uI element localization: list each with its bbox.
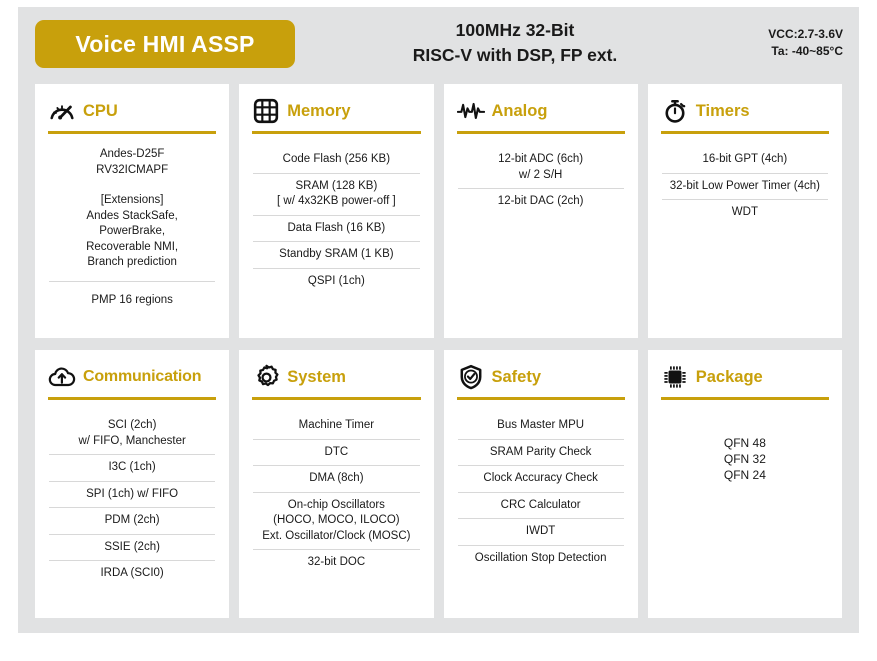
feature-row: Clock Accuracy Check	[458, 465, 624, 492]
feature-line: 32-bit DOC	[253, 555, 419, 571]
feature-line: Standby SRAM (1 KB)	[253, 247, 419, 263]
card-accent-rule	[252, 131, 420, 134]
stopwatch-icon	[661, 97, 689, 125]
waveform-icon	[457, 97, 485, 125]
feature-line: [ w/ 4x32KB power-off ]	[253, 194, 419, 210]
feature-row: IRDA (SCI0)	[49, 560, 215, 587]
feature-line: [Extensions]	[49, 193, 215, 209]
feature-row: WDT	[662, 199, 828, 226]
feature-row: 12-bit DAC (2ch)	[458, 188, 624, 215]
feature-line: Branch prediction	[49, 255, 215, 271]
feature-row: QSPI (1ch)	[253, 268, 419, 295]
feature-line: w/ 2 S/H	[458, 168, 624, 184]
feature-line: SCI (2ch)	[49, 418, 215, 434]
feature-row: CRC Calculator	[458, 492, 624, 519]
feature-row: PDM (2ch)	[49, 507, 215, 534]
package-option: QFN 48	[724, 435, 766, 451]
feature-row: SCI (2ch)w/ FIFO, Manchester	[49, 413, 215, 454]
shield-check-icon	[457, 363, 485, 391]
package-list-inner: QFN 48QFN 32QFN 24	[724, 435, 766, 483]
card-header-system: System	[250, 360, 422, 394]
feature-line: SRAM Parity Check	[458, 445, 624, 461]
feature-line: Data Flash (16 KB)	[253, 221, 419, 237]
feature-row: Machine Timer	[253, 413, 419, 439]
temperature-label: Ta: -40~85°C	[768, 43, 843, 60]
feature-row: I3C (1ch)	[49, 454, 215, 481]
feature-block: PMP 16 regions	[49, 281, 215, 309]
feature-row: Data Flash (16 KB)	[253, 215, 419, 242]
feature-line: Bus Master MPU	[458, 418, 624, 434]
card-title-cpu: CPU	[83, 102, 118, 121]
package-option: QFN 32	[724, 451, 766, 467]
feature-row: 12-bit ADC (6ch)w/ 2 S/H	[458, 147, 624, 188]
card-accent-rule	[661, 131, 829, 134]
card-accent-rule	[457, 131, 625, 134]
card-system: SystemMachine TimerDTCDMA (8ch)On-chip O…	[239, 350, 433, 618]
card-title-system: System	[287, 368, 346, 387]
package-list: QFN 48QFN 32QFN 24	[662, 435, 828, 483]
feature-row: 32-bit Low Power Timer (4ch)	[662, 173, 828, 200]
card-accent-rule	[661, 397, 829, 400]
card-body-timers: 16-bit GPT (4ch)32-bit Low Power Timer (…	[659, 147, 831, 226]
card-body-cpu: Andes-D25FRV32ICMAPF[Extensions]Andes St…	[46, 147, 218, 308]
feature-line: SSIE (2ch)	[49, 540, 215, 556]
feature-line: w/ FIFO, Manchester	[49, 434, 215, 450]
feature-row: SPI (1ch) w/ FIFO	[49, 481, 215, 508]
card-memory: MemoryCode Flash (256 KB)SRAM (128 KB)[ …	[239, 84, 433, 338]
card-title-analog: Analog	[492, 102, 548, 121]
card-header-timers: Timers	[659, 94, 831, 128]
feature-line: Andes-D25F	[49, 147, 215, 163]
feature-line: 12-bit ADC (6ch)	[458, 152, 624, 168]
grid-icon	[252, 97, 280, 125]
datasheet-block-diagram: Voice HMI ASSP 100MHz 32-Bit RISC-V with…	[0, 0, 877, 661]
header-spec-line1: 100MHz 32-Bit	[335, 18, 695, 43]
feature-row: Standby SRAM (1 KB)	[253, 241, 419, 268]
card-title-memory: Memory	[287, 102, 350, 121]
gauge-icon	[48, 97, 76, 125]
vcc-label: VCC:2.7-3.6V	[768, 26, 843, 43]
feature-line: DTC	[253, 445, 419, 461]
card-package: PackageQFN 48QFN 32QFN 24	[648, 350, 842, 618]
cloud-upload-icon	[48, 363, 76, 391]
feature-row: IWDT	[458, 518, 624, 545]
feature-line: On-chip Oscillators	[253, 498, 419, 514]
card-title-safety: Safety	[492, 368, 542, 387]
header-spec-right: VCC:2.7-3.6V Ta: -40~85°C	[768, 26, 843, 60]
feature-row: Bus Master MPU	[458, 413, 624, 439]
feature-line: Code Flash (256 KB)	[253, 152, 419, 168]
feature-line: PDM (2ch)	[49, 513, 215, 529]
product-title-label: Voice HMI ASSP	[75, 31, 254, 58]
feature-row: DMA (8ch)	[253, 465, 419, 492]
feature-line: I3C (1ch)	[49, 460, 215, 476]
feature-row: Code Flash (256 KB)	[253, 147, 419, 173]
card-body-package: QFN 48QFN 32QFN 24	[659, 413, 831, 483]
card-title-communication: Communication	[83, 368, 201, 386]
feature-block: [Extensions]Andes StackSafe,PowerBrake,R…	[49, 193, 215, 271]
card-body-communication: SCI (2ch)w/ FIFO, ManchesterI3C (1ch)SPI…	[46, 413, 218, 587]
product-title-badge: Voice HMI ASSP	[35, 20, 295, 68]
card-communication: CommunicationSCI (2ch)w/ FIFO, Mancheste…	[35, 350, 229, 618]
feature-line: Machine Timer	[253, 418, 419, 434]
feature-row: SRAM Parity Check	[458, 439, 624, 466]
card-header-communication: Communication	[46, 360, 218, 394]
card-body-system: Machine TimerDTCDMA (8ch)On-chip Oscilla…	[250, 413, 422, 576]
feature-line: CRC Calculator	[458, 498, 624, 514]
card-accent-rule	[48, 397, 216, 400]
feature-row: SRAM (128 KB)[ w/ 4x32KB power-off ]	[253, 173, 419, 215]
card-title-timers: Timers	[696, 102, 750, 121]
feature-card-grid: CPUAndes-D25FRV32ICMAPF[Extensions]Andes…	[35, 84, 842, 618]
header: Voice HMI ASSP 100MHz 32-Bit RISC-V with…	[35, 18, 859, 76]
card-body-memory: Code Flash (256 KB)SRAM (128 KB)[ w/ 4x3…	[250, 147, 422, 294]
feature-line: 16-bit GPT (4ch)	[662, 152, 828, 168]
feature-line: WDT	[662, 205, 828, 221]
feature-line: SPI (1ch) w/ FIFO	[49, 487, 215, 503]
feature-line: QSPI (1ch)	[253, 274, 419, 290]
feature-row: 32-bit DOC	[253, 549, 419, 576]
card-accent-rule	[252, 397, 420, 400]
feature-line: (HOCO, MOCO, ILOCO)	[253, 513, 419, 529]
gear-icon	[252, 363, 280, 391]
feature-row: 16-bit GPT (4ch)	[662, 147, 828, 173]
feature-line: Andes StackSafe,	[49, 209, 215, 225]
card-body-analog: 12-bit ADC (6ch)w/ 2 S/H12-bit DAC (2ch)	[455, 147, 627, 215]
card-timers: Timers16-bit GPT (4ch)32-bit Low Power T…	[648, 84, 842, 338]
card-accent-rule	[48, 131, 216, 134]
feature-line: RV32ICMAPF	[49, 163, 215, 179]
card-header-safety: Safety	[455, 360, 627, 394]
card-accent-rule	[457, 397, 625, 400]
feature-line: DMA (8ch)	[253, 471, 419, 487]
feature-line: Recoverable NMI,	[49, 240, 215, 256]
card-analog: Analog12-bit ADC (6ch)w/ 2 S/H12-bit DAC…	[444, 84, 638, 338]
feature-line: Oscillation Stop Detection	[458, 551, 624, 567]
feature-line: PMP 16 regions	[49, 293, 215, 309]
card-title-package: Package	[696, 368, 763, 387]
feature-line: Clock Accuracy Check	[458, 471, 624, 487]
card-header-analog: Analog	[455, 94, 627, 128]
card-header-cpu: CPU	[46, 94, 218, 128]
feature-line: Ext. Oscillator/Clock (MOSC)	[253, 529, 419, 545]
package-option: QFN 24	[724, 467, 766, 483]
header-spec-center: 100MHz 32-Bit RISC-V with DSP, FP ext.	[335, 18, 695, 68]
feature-line: 12-bit DAC (2ch)	[458, 194, 624, 210]
chip-icon	[661, 363, 689, 391]
card-safety: SafetyBus Master MPUSRAM Parity CheckClo…	[444, 350, 638, 618]
card-body-safety: Bus Master MPUSRAM Parity CheckClock Acc…	[455, 413, 627, 571]
feature-line: IRDA (SCI0)	[49, 566, 215, 582]
feature-line: IWDT	[458, 524, 624, 540]
feature-row: Oscillation Stop Detection	[458, 545, 624, 572]
feature-line: PowerBrake,	[49, 224, 215, 240]
feature-row: DTC	[253, 439, 419, 466]
feature-row: SSIE (2ch)	[49, 534, 215, 561]
card-cpu: CPUAndes-D25FRV32ICMAPF[Extensions]Andes…	[35, 84, 229, 338]
feature-line: 32-bit Low Power Timer (4ch)	[662, 179, 828, 195]
header-spec-line2: RISC-V with DSP, FP ext.	[335, 43, 695, 68]
card-header-package: Package	[659, 360, 831, 394]
card-header-memory: Memory	[250, 94, 422, 128]
feature-block: Andes-D25FRV32ICMAPF	[49, 147, 215, 178]
feature-line: SRAM (128 KB)	[253, 179, 419, 195]
feature-row: On-chip Oscillators(HOCO, MOCO, ILOCO)Ex…	[253, 492, 419, 550]
